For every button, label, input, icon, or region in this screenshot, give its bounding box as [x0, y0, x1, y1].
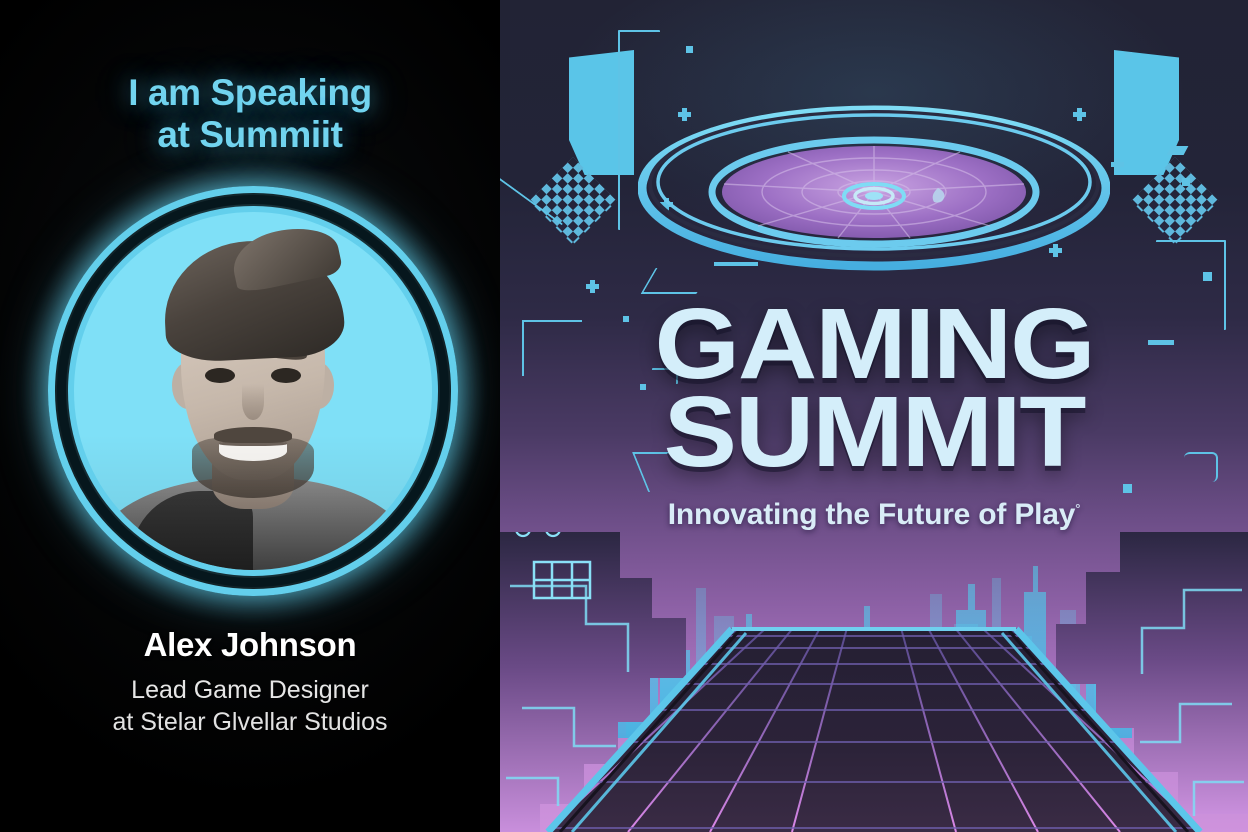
portrait-shading-overlay — [74, 212, 432, 570]
event-title-line-2: SUMMIT — [500, 388, 1248, 476]
pixel-plus-icon — [1111, 158, 1124, 171]
speaking-headline: I am Speaking at Summiit — [0, 72, 500, 156]
avatar-disc — [68, 206, 438, 576]
speaker-role: Lead Game Designer — [0, 674, 500, 706]
headline-line-1: I am Speaking — [0, 72, 500, 114]
pixel-dot — [686, 46, 693, 53]
avatar — [48, 186, 458, 596]
speaker-name: Alex Johnson — [0, 625, 500, 665]
speaker-panel: I am Speaking at Summiit — [0, 0, 500, 832]
pixel-plus-icon — [586, 280, 599, 293]
speaker-details: Alex Johnson Lead Game Designer at Stela… — [0, 625, 500, 738]
pixel-dot — [1125, 52, 1132, 59]
event-tagline: Innovating the Future of Play° — [500, 498, 1248, 532]
event-artwork-panel: GAMING SUMMIT Innovating the Future of P… — [500, 0, 1248, 832]
speaker-portrait-photo — [74, 212, 432, 570]
headline-line-2: at Summiit — [0, 114, 500, 156]
tagline-degree-mark: ° — [1075, 501, 1080, 516]
event-title-line-1: GAMING — [500, 300, 1248, 388]
banner-chevron-right-icon — [1114, 50, 1179, 175]
event-title: GAMING SUMMIT — [500, 300, 1248, 476]
pixel-dot — [1123, 484, 1132, 493]
event-tagline-text: Innovating the Future of Play — [668, 498, 1076, 531]
radar-portal-disc — [638, 92, 1110, 282]
speaker-company: at Stelar Glvellar Studios — [0, 706, 500, 738]
speaker-announcement-poster: I am Speaking at Summiit — [0, 0, 1248, 832]
pixel-dot — [1182, 178, 1190, 186]
pixel-dash — [1167, 146, 1189, 155]
